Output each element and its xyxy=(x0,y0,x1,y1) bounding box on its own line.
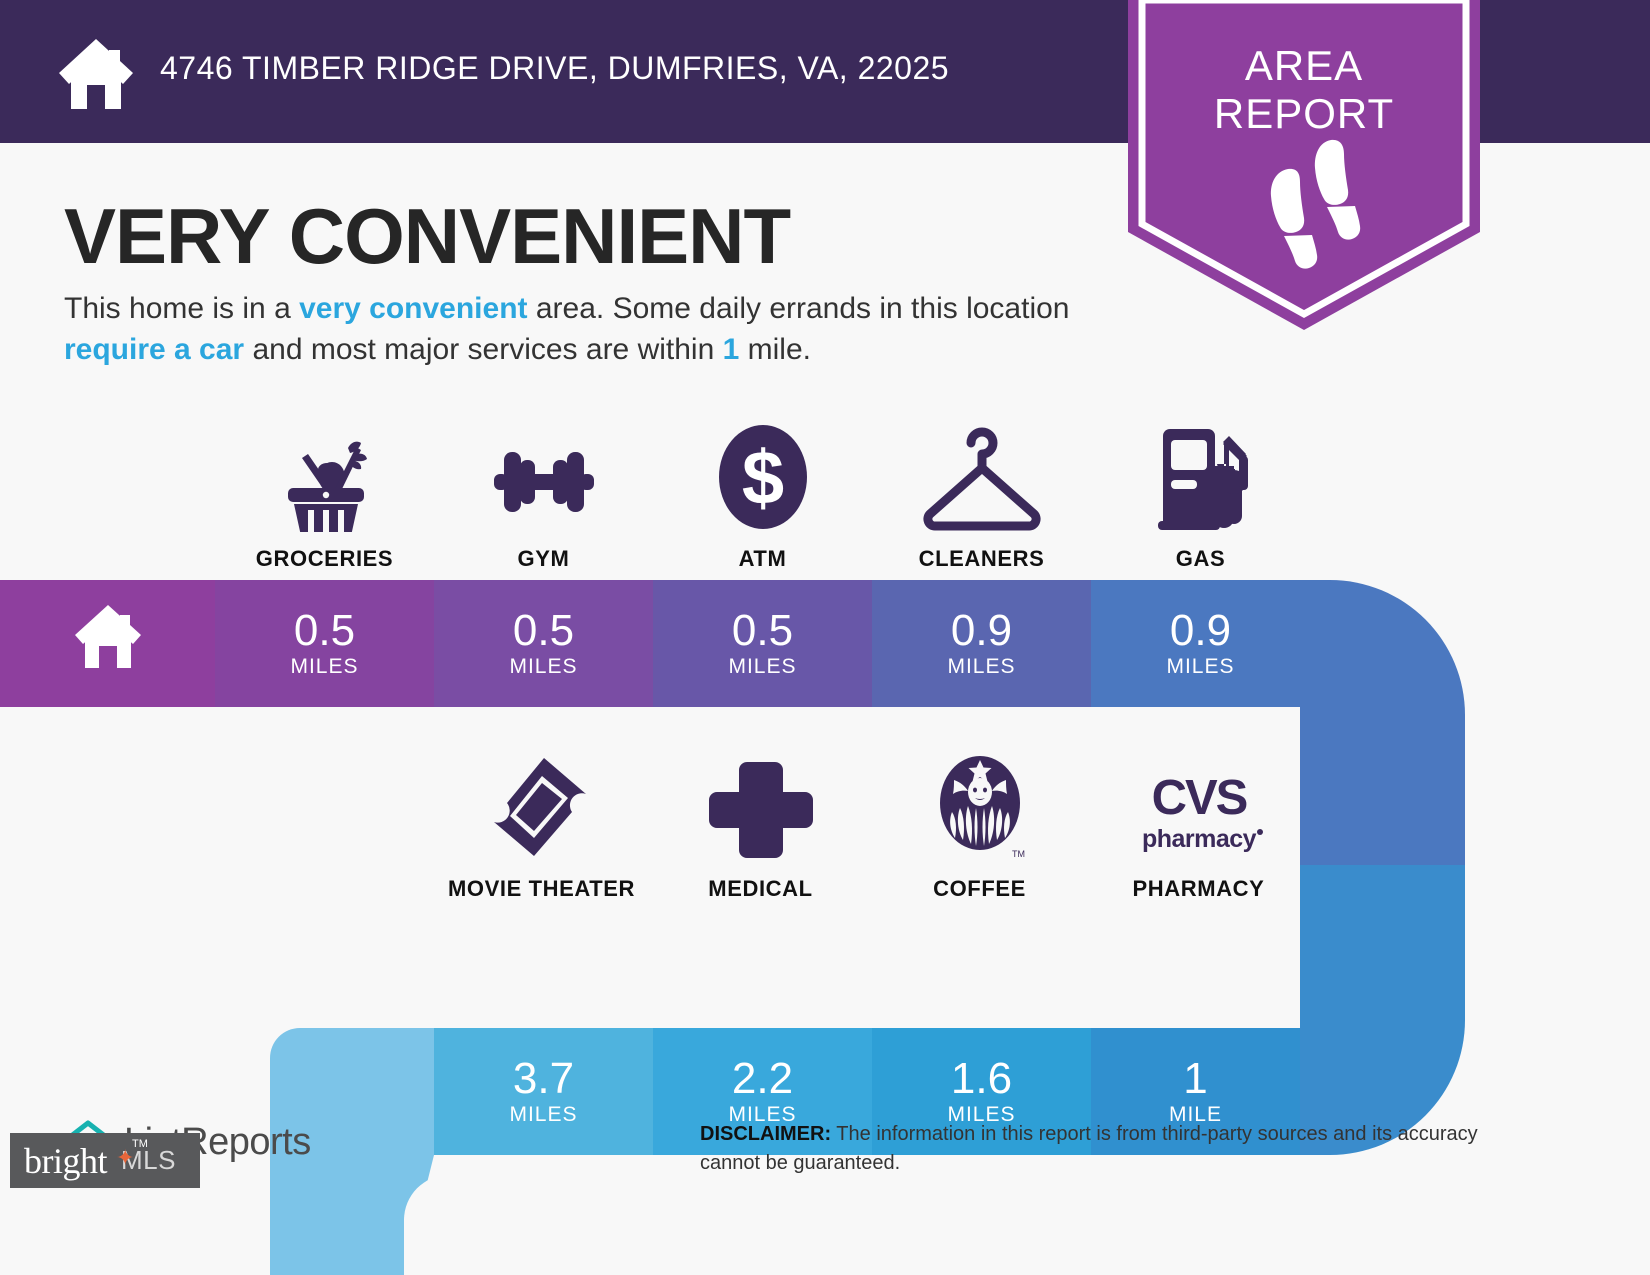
desc-highlight-1: very convenient xyxy=(299,292,527,325)
dumbbell-icon xyxy=(474,420,614,532)
category-label: ATM xyxy=(739,546,787,572)
category-label: GYM xyxy=(518,546,570,572)
area-report-badge: AREA REPORT xyxy=(1128,0,1480,330)
grocery-basket-icon xyxy=(270,420,380,532)
disclaimer-label: DISCLAIMER: xyxy=(700,1123,831,1145)
category-atm: $ ATM xyxy=(653,420,872,572)
area-report-page: 4746 TIMBER RIDGE DRIVE, DUMFRIES, VA, 2… xyxy=(0,0,1650,1275)
hero-description: This home is in a very convenient area. … xyxy=(64,288,1114,370)
gas-pump-icon xyxy=(1151,420,1251,532)
category-groceries: GROCERIES xyxy=(215,420,434,572)
bright-mls-wordmark: bright xyxy=(24,1140,107,1182)
category-gym: GYM xyxy=(434,420,653,572)
row1-segments xyxy=(0,580,1310,707)
home-icon xyxy=(57,33,135,111)
desc-highlight-2: require a car xyxy=(64,333,244,366)
desc-text-2: area. Some daily errands in this locatio… xyxy=(528,292,1070,325)
dollar-circle-icon: $ xyxy=(713,420,813,532)
category-gas: GAS xyxy=(1091,420,1310,572)
bright-mls-badge: bright ✦ TM MLS xyxy=(10,1133,200,1188)
svg-text:$: $ xyxy=(741,436,783,521)
category-label: GAS xyxy=(1176,546,1225,572)
row1-icon-strip: GROCERIES GYM xyxy=(215,420,1310,572)
home-icon xyxy=(73,602,143,668)
hero-title: VERY CONVENIENT xyxy=(64,190,790,282)
disclaimer: DISCLAIMER: The information in this repo… xyxy=(700,1120,1510,1178)
desc-text-3: and most major services are within xyxy=(244,333,723,366)
page-title: 4746 TIMBER RIDGE DRIVE, DUMFRIES, VA, 2… xyxy=(160,50,949,87)
desc-text-4: mile. xyxy=(739,333,811,366)
category-label: CLEANERS xyxy=(919,546,1045,572)
desc-text-1: This home is in a xyxy=(64,292,299,325)
hanger-icon xyxy=(912,420,1052,532)
bright-mls-tm: TM xyxy=(132,1138,148,1150)
category-cleaners: CLEANERS xyxy=(872,420,1091,572)
desc-highlight-3: 1 xyxy=(723,333,740,366)
ribbon-right-turn xyxy=(1300,580,1465,1155)
category-label: GROCERIES xyxy=(256,546,393,572)
